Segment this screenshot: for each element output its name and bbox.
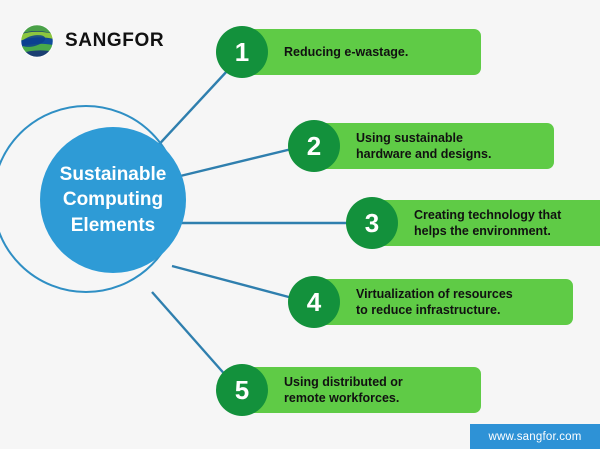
hub-title: Sustainable Computing Elements — [54, 162, 173, 237]
connector-line-2 — [172, 147, 300, 178]
sangfor-globe-logo-icon — [18, 22, 56, 60]
item-badge-4: 4 — [288, 276, 340, 328]
item-text-3: Creating technology that helps the envir… — [414, 207, 561, 239]
connector-line-4 — [172, 266, 300, 300]
item-bar-2: Using sustainable hardware and designs. — [314, 123, 554, 169]
brand-lockup: SANGFOR — [18, 22, 164, 60]
item-text-2: Using sustainable hardware and designs. — [356, 130, 491, 162]
item-text-1: Reducing e-wastage. — [284, 44, 408, 60]
item-badge-5: 5 — [216, 364, 268, 416]
hub-circle: Sustainable Computing Elements — [40, 127, 186, 273]
website-url-badge[interactable]: www.sangfor.com — [470, 424, 600, 449]
item-badge-3: 3 — [346, 197, 398, 249]
item-text-4: Virtualization of resources to reduce in… — [356, 286, 513, 318]
item-badge-2: 2 — [288, 120, 340, 172]
item-bar-3: Creating technology that helps the envir… — [372, 200, 600, 246]
item-bar-1: Reducing e-wastage. — [242, 29, 481, 75]
item-text-5: Using distributed or remote workforces. — [284, 374, 403, 406]
connector-line-5 — [152, 292, 228, 378]
brand-name: SANGFOR — [65, 30, 164, 52]
infographic-canvas: Sustainable Computing Elements SANGFOR R… — [0, 0, 600, 449]
item-badge-1: 1 — [216, 26, 268, 78]
connector-line-1 — [152, 70, 228, 152]
item-bar-5: Using distributed or remote workforces. — [242, 367, 481, 413]
item-bar-4: Virtualization of resources to reduce in… — [314, 279, 573, 325]
